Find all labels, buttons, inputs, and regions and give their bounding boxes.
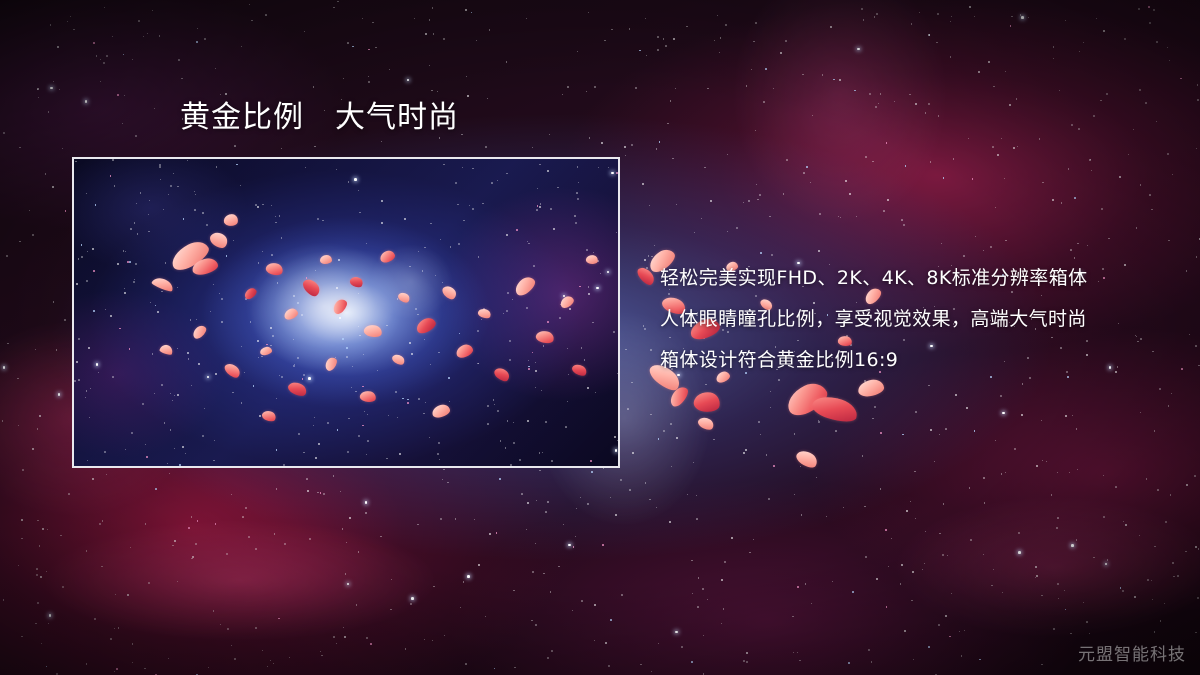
- flower-petal: [696, 415, 715, 433]
- body-text-line: 箱体设计符合黄金比例16:9: [660, 340, 1180, 381]
- watermark: 元盟智能科技: [1078, 640, 1186, 665]
- flower-petal: [320, 255, 332, 264]
- body-text-line: 轻松完美实现FHD、2K、4K、8K标准分辨率箱体: [660, 258, 1180, 299]
- presentation-slide: 黄金比例 大气时尚 轻松完美实现FHD、2K、4K、8K标准分辨率箱体 人体眼睛…: [0, 0, 1200, 675]
- body-text-block: 轻松完美实现FHD、2K、4K、8K标准分辨率箱体 人体眼睛瞳孔比例，享受视觉效…: [660, 258, 1180, 381]
- flower-petal: [794, 447, 820, 471]
- body-text-line: 人体眼睛瞳孔比例，享受视觉效果，高端大气时尚: [660, 299, 1180, 340]
- galaxy-core-glow: [74, 159, 618, 466]
- flower-petal: [692, 390, 721, 414]
- page-title: 黄金比例 大气时尚: [180, 103, 459, 133]
- flower-petal: [857, 378, 885, 397]
- galaxy-petals-photo-frame: [72, 157, 620, 468]
